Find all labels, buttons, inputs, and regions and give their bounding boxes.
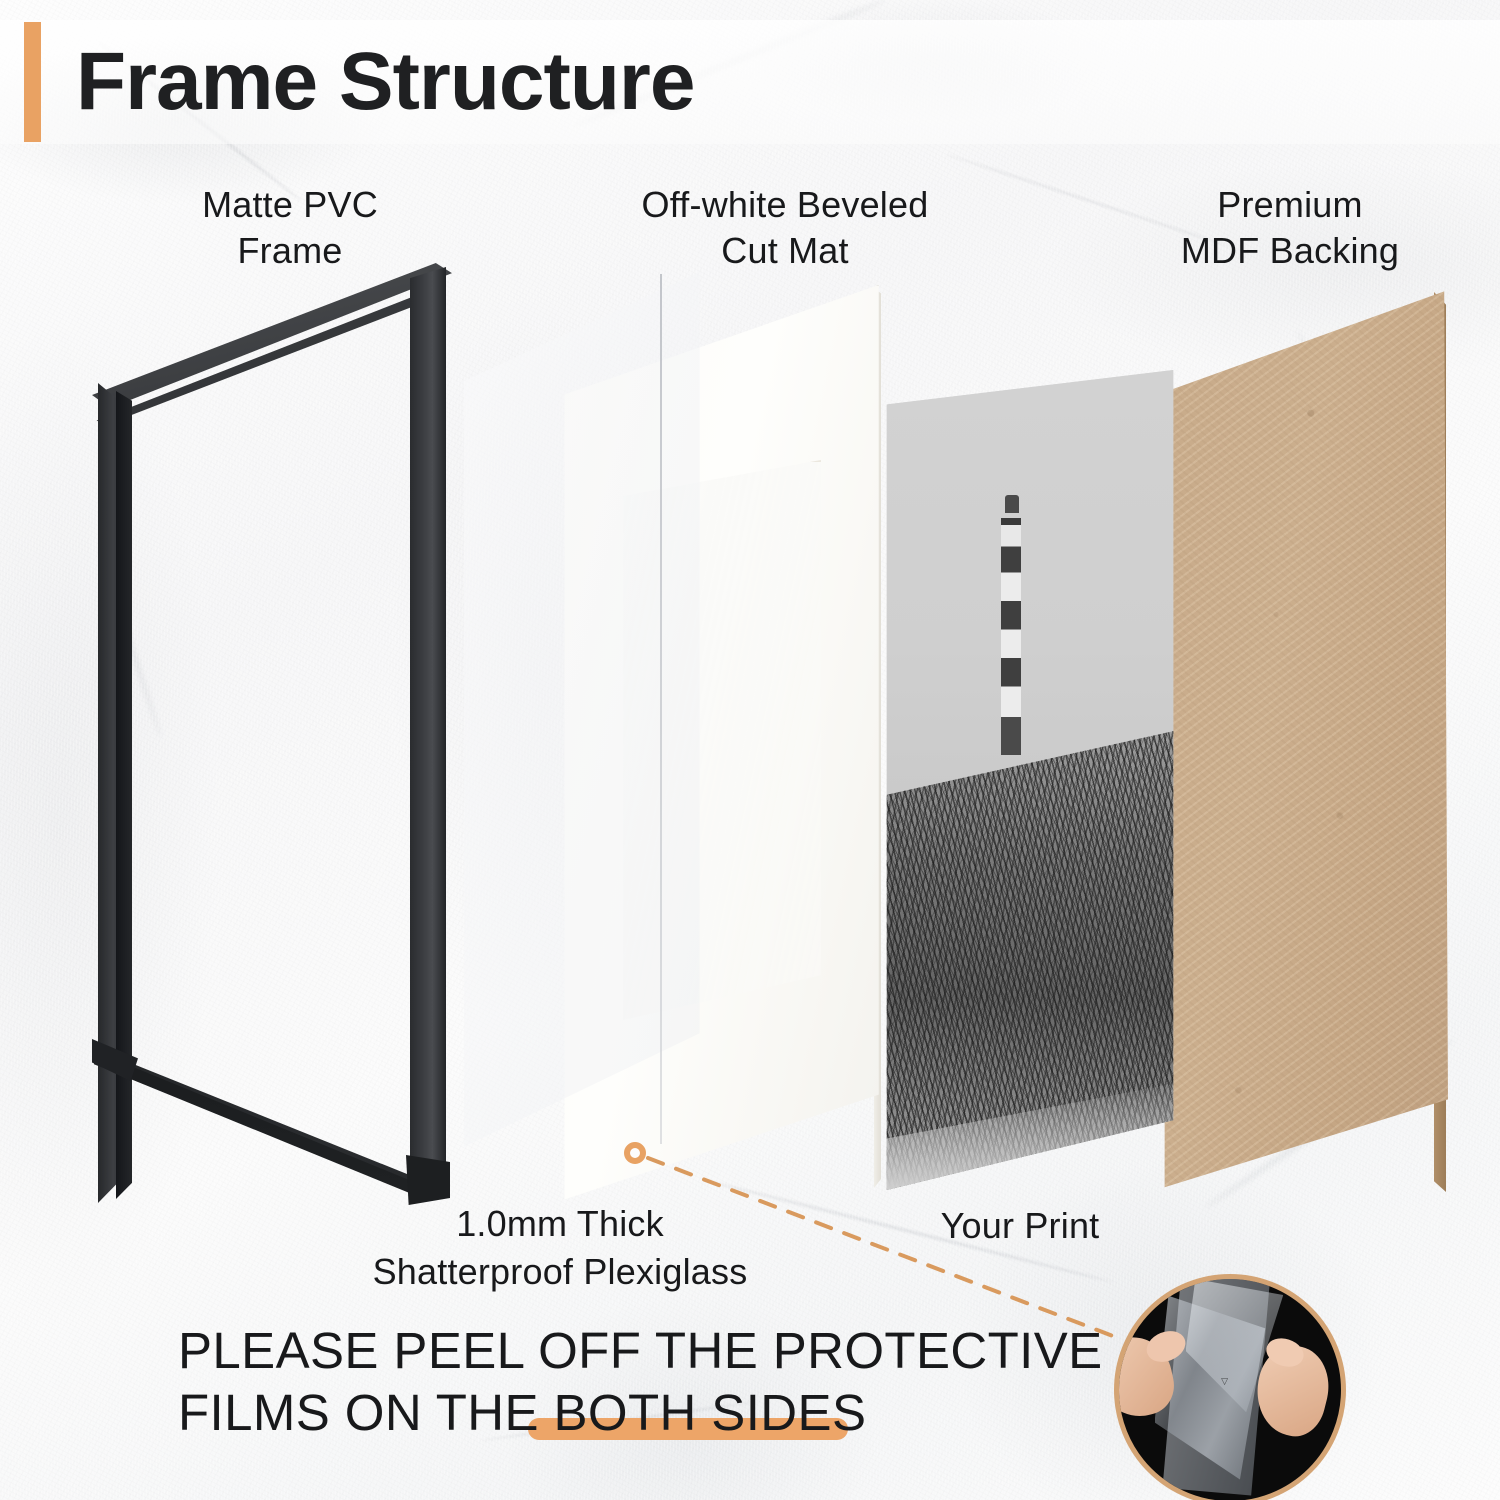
notice-line-2: FILMS ON THE BOTH SIDES — [178, 1382, 1178, 1444]
frame-corner-bottom-right — [406, 1155, 450, 1205]
notice-line-1: PLEASE PEEL OFF THE PROTECTIVE — [178, 1320, 1178, 1382]
plexiglass-edge-line — [660, 274, 662, 1144]
label-your-print: Your Print — [860, 1202, 1180, 1250]
label-shatterproof-plexiglass: 1.0mm Thick Shatterproof Plexiglass — [240, 1200, 880, 1296]
callout-marker-icon — [624, 1142, 646, 1164]
frame-top-rail — [92, 263, 452, 408]
layer-shatterproof-plexiglass — [462, 272, 702, 1152]
peel-notice: PLEASE PEEL OFF THE PROTECTIVE FILMS ON … — [178, 1320, 1178, 1444]
layer-matte-pvc-frame — [80, 255, 460, 1205]
layer-premium-mdf-backing — [1160, 285, 1450, 1200]
infographic-canvas: Frame Structure Matte PVC Frame Off-whit… — [0, 0, 1500, 1500]
lighthouse-tower — [1001, 518, 1021, 756]
frame-bottom-face — [94, 1051, 446, 1213]
lighthouse-lamp-icon — [1005, 495, 1019, 513]
label-line-2: Shatterproof Plexiglass — [240, 1248, 880, 1296]
frame-right-rail — [410, 267, 446, 1197]
frame-top-face — [93, 277, 449, 425]
layer-your-print — [885, 370, 1175, 1190]
label-line-1: 1.0mm Thick — [240, 1200, 880, 1248]
film-label-icon: ▽ — [1221, 1372, 1247, 1390]
